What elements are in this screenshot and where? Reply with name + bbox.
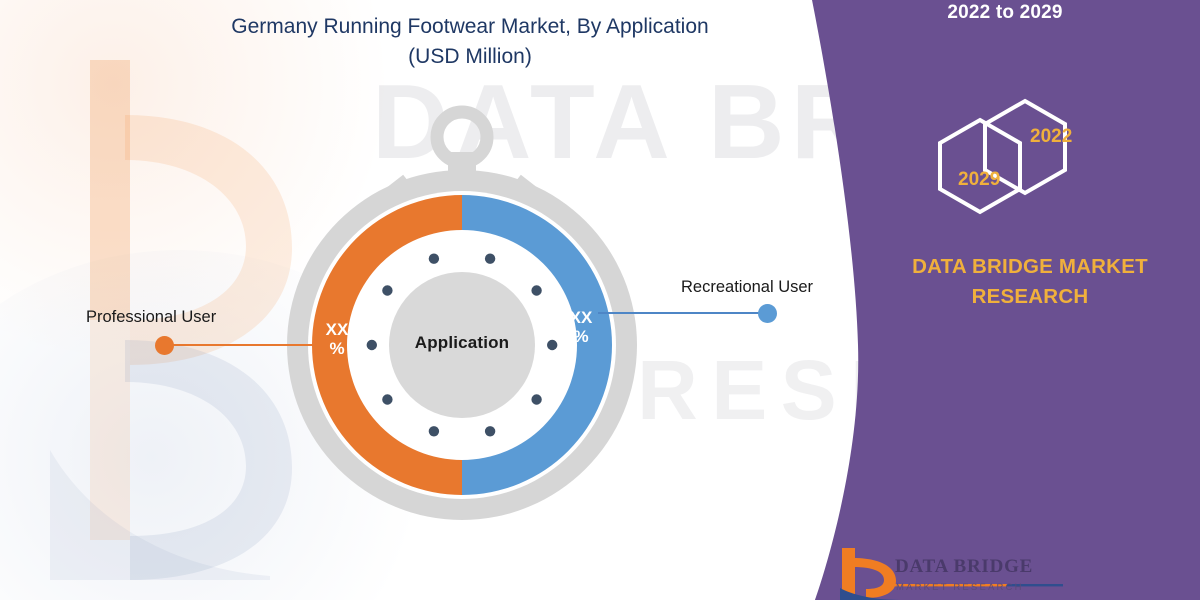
- callout-dot-recreational-user[interactable]: [758, 304, 777, 323]
- percent-sign-professional: %: [320, 339, 354, 358]
- brand-name-line-1: DATA BRIDGE MARKET: [880, 252, 1180, 282]
- chart-title-line-1: Germany Running Footwear Market, By Appl…: [150, 12, 790, 42]
- brand-name-block: DATA BRIDGE MARKET RESEARCH: [880, 252, 1180, 312]
- panel-period-label: 2022 to 2029: [905, 2, 1105, 24]
- percent-value-professional: XX: [320, 320, 354, 339]
- callout-line-recreational-user: [598, 312, 770, 314]
- hexagon-year-2022-label: 2022: [1030, 126, 1072, 148]
- chart-title: Germany Running Footwear Market, By Appl…: [150, 12, 790, 72]
- percent-value-recreational: XX: [564, 308, 598, 327]
- donut-chart: Application XX % XX %: [272, 90, 652, 520]
- donut-percent-recreational-user: XX %: [564, 308, 598, 346]
- donut-chart-svg: [272, 90, 652, 520]
- callout-label-professional-user: Professional User: [86, 308, 216, 327]
- hexagon-2029-outline: [940, 120, 1020, 212]
- callout-line-professional-user: [166, 344, 318, 346]
- year-hexagons-icon: [925, 95, 1115, 215]
- percent-sign-recreational: %: [564, 327, 598, 346]
- donut-percent-professional-user: XX %: [320, 320, 354, 358]
- callout-label-recreational-user: Recreational User: [681, 278, 813, 297]
- logo-name: DATA BRIDGE: [895, 556, 1033, 578]
- brand-name-line-2: RESEARCH: [880, 282, 1180, 312]
- chart-title-line-2: (USD Million): [150, 42, 790, 72]
- callout-dot-professional-user[interactable]: [155, 336, 174, 355]
- hexagon-year-2029-label: 2029: [958, 169, 1000, 191]
- infographic-canvas: DATA BRI KET RESEARCH Germany Running Fo…: [0, 0, 1200, 600]
- logo-tagline: MARKET RESEARCH: [896, 582, 1024, 593]
